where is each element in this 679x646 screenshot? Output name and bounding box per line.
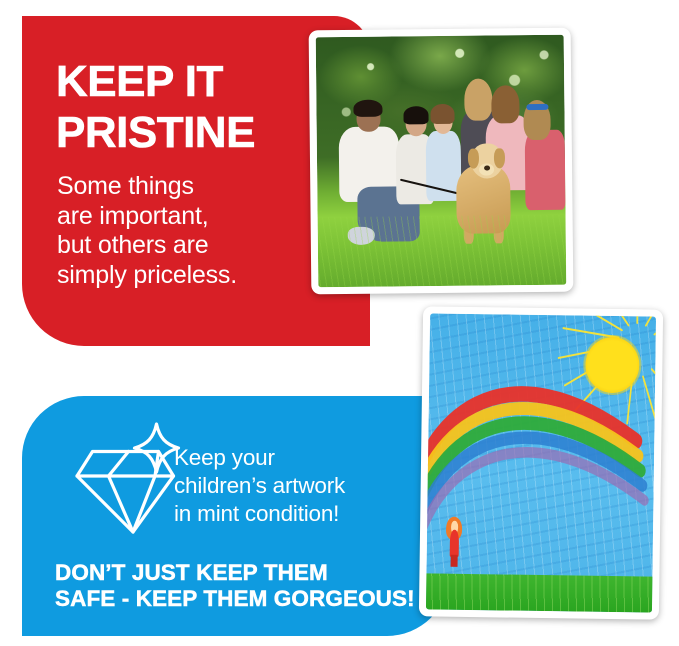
person-father-hair <box>354 99 383 117</box>
blue-panel-tagline: DON’T JUST KEEP THEM SAFE - KEEP THEM GO… <box>55 560 445 611</box>
grass-band <box>426 574 656 613</box>
promo-graphic: KEEP IT PRISTINE Some things are importa… <box>0 0 679 646</box>
person-boy-hair <box>403 106 428 124</box>
tagline-line-2: SAFE - KEEP THEM GORGEOUS! <box>55 586 445 612</box>
blue-copy-line-3: in mint condition! <box>174 500 444 528</box>
blue-copy-line-1: Keep your <box>174 444 444 472</box>
person-teen-hair <box>464 78 493 121</box>
dog-nose <box>484 165 490 170</box>
family-photo-image <box>316 35 567 288</box>
drawn-figure-body <box>449 530 458 557</box>
person-girl2-headband <box>526 104 548 110</box>
person-girl2-torso <box>525 130 566 210</box>
rainbow-drawing-image <box>426 313 656 612</box>
blue-copy-line-2: children’s artwork <box>174 472 444 500</box>
dog-front-leg-right <box>494 215 504 243</box>
person-girl1-hair <box>430 103 454 123</box>
rainbow-arc <box>426 348 656 589</box>
dog-front-leg-left <box>464 216 474 244</box>
blue-callout-panel: Keep your children’s artwork in mint con… <box>22 396 449 636</box>
tagline-line-1: DON’T JUST KEEP THEM <box>55 560 445 586</box>
person-father-shoe <box>347 227 374 245</box>
family-with-dog-photo <box>309 28 574 295</box>
person-mother-hair <box>491 85 520 123</box>
blue-panel-copy: Keep your children’s artwork in mint con… <box>174 444 444 528</box>
childrens-rainbow-drawing-photo <box>419 306 663 619</box>
drawn-figure-legs <box>450 555 457 567</box>
